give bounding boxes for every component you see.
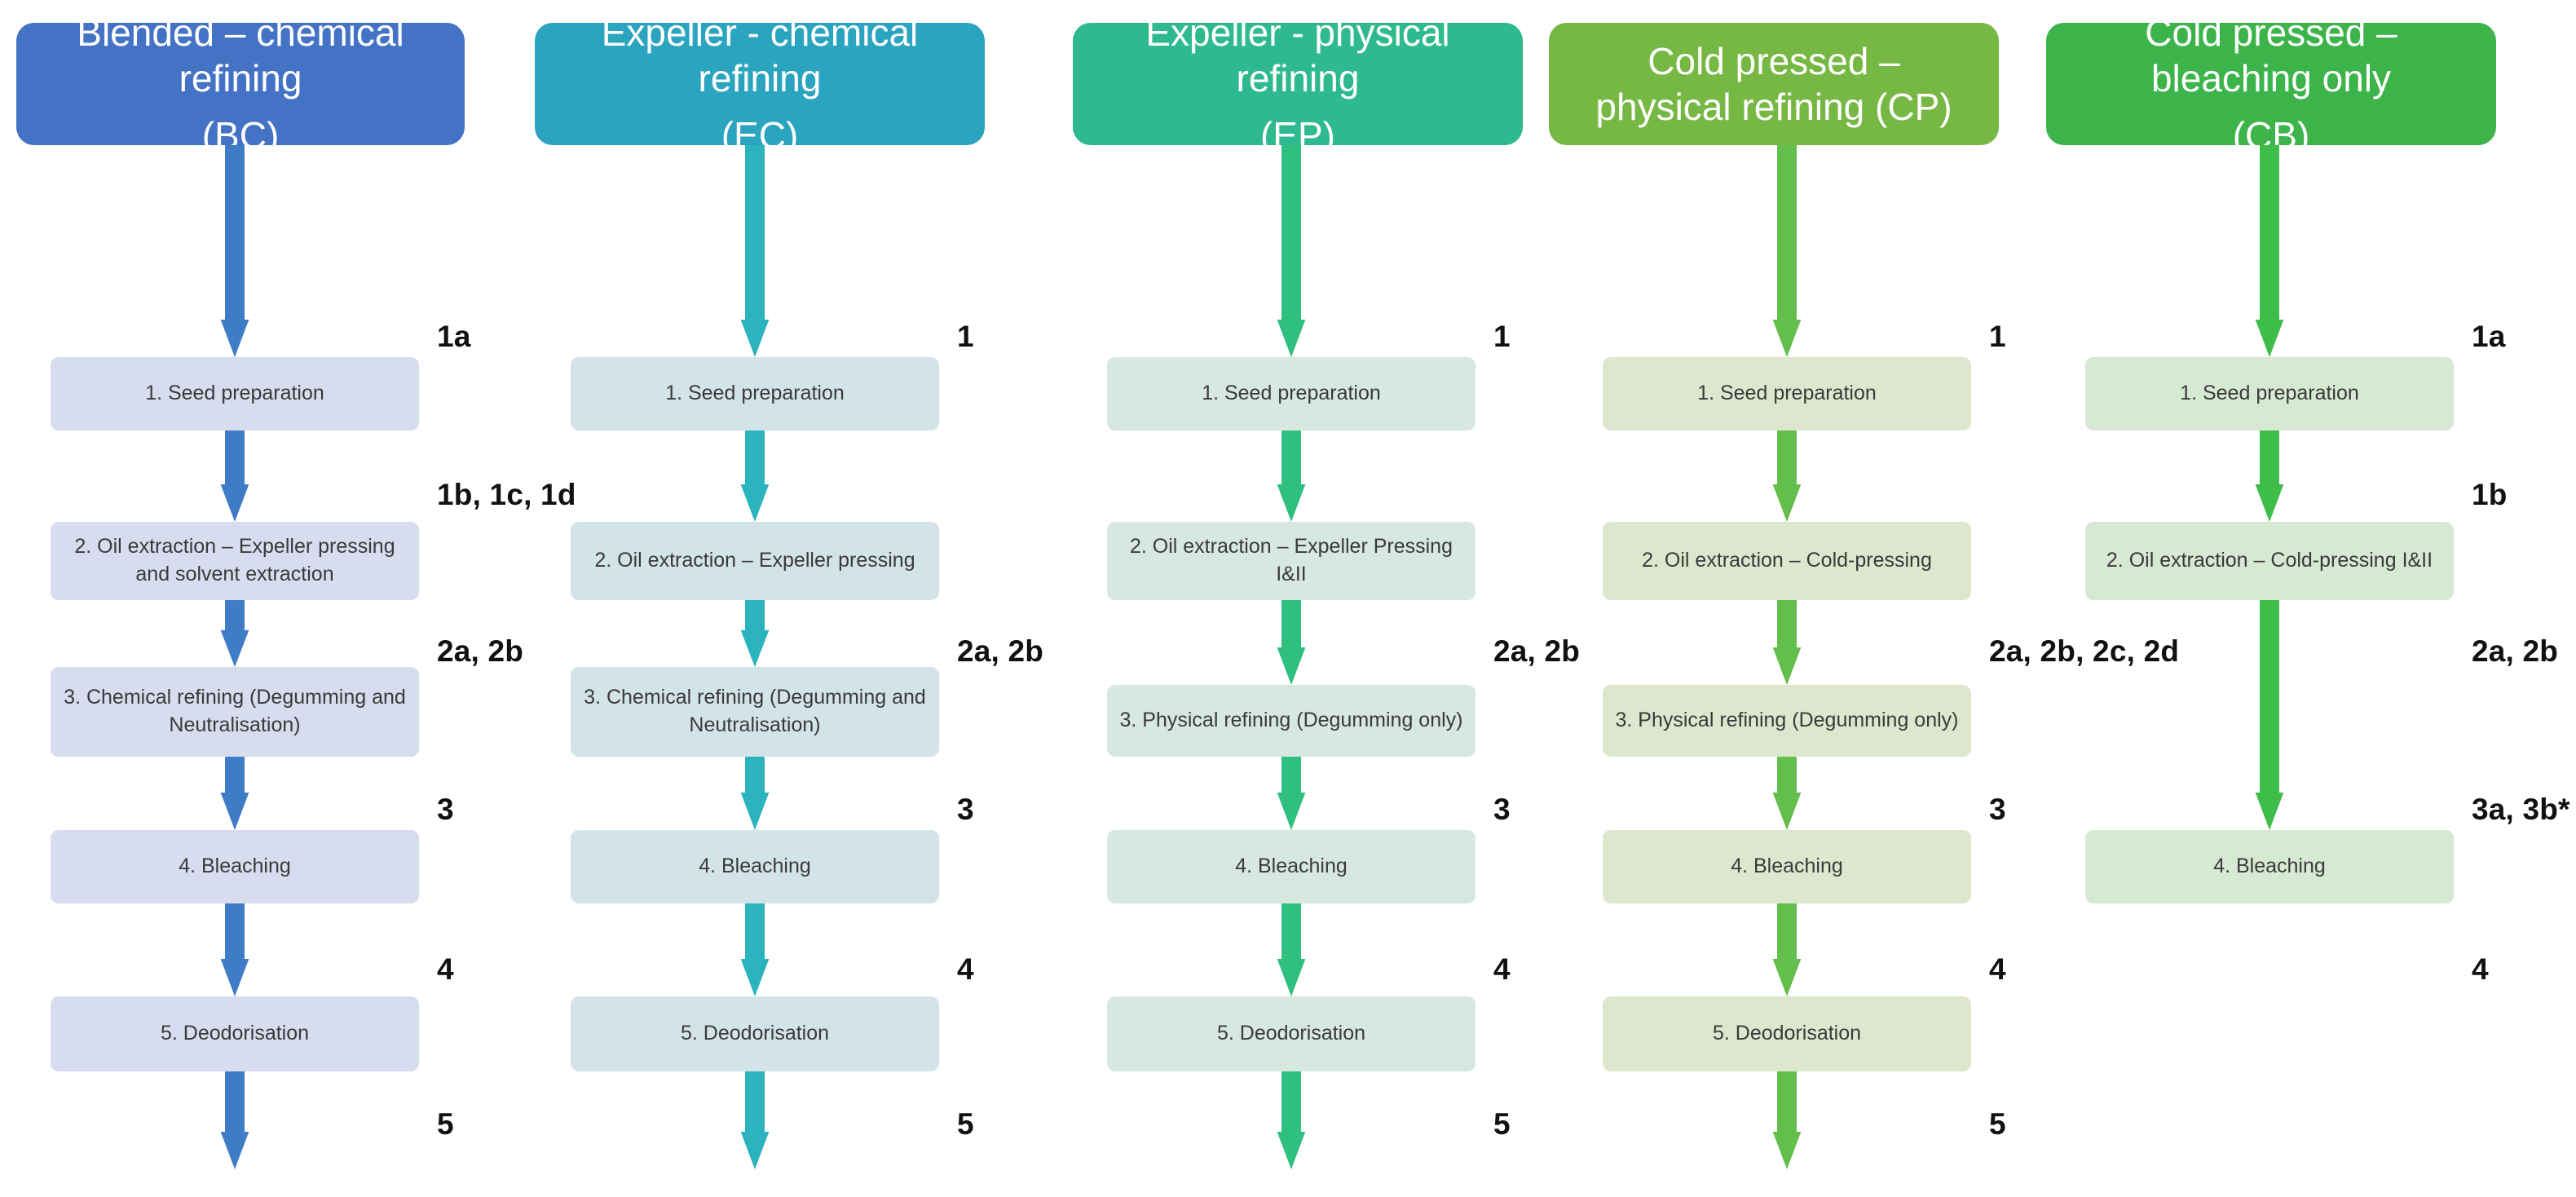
step-side-label: 1b bbox=[2472, 478, 2508, 512]
column-header-line: bleaching only bbox=[2145, 55, 2397, 101]
column-header-text: Blended – chemicalrefining(BC) bbox=[77, 10, 404, 158]
column-header-line: Cold pressed – bbox=[2145, 10, 2397, 55]
column-header-CB[interactable]: Cold pressed –bleaching only(CB) bbox=[2046, 23, 2496, 145]
flow-arrow bbox=[1764, 1071, 1810, 1169]
step-side-label: 3 bbox=[437, 793, 454, 827]
flow-arrow bbox=[1764, 145, 1810, 357]
step-box-label: 1. Seed preparation bbox=[2180, 380, 2359, 408]
step-side-label: 3a, 3b* bbox=[2472, 793, 2570, 827]
column-header-line: Expeller - physical bbox=[1145, 10, 1449, 55]
step-box-BC-2[interactable]: 2. Oil extraction – Expeller pressing an… bbox=[51, 522, 419, 600]
step-box-label: 4. Bleaching bbox=[1235, 853, 1348, 881]
step-box-label: 2. Oil extraction – Expeller Pressing I&… bbox=[1117, 533, 1466, 589]
step-box-label: 5. Deodorisation bbox=[681, 1020, 829, 1048]
column-header-EC[interactable]: Expeller - chemicalrefining(EC) bbox=[535, 23, 985, 145]
step-side-label: 1b, 1c, 1d bbox=[437, 478, 576, 512]
flow-arrow bbox=[1764, 903, 1810, 996]
step-side-label: 3 bbox=[1989, 793, 2006, 827]
flow-arrow bbox=[732, 757, 778, 830]
flow-arrow bbox=[212, 1071, 258, 1169]
column-header-line: refining bbox=[77, 55, 404, 101]
step-box-CP-5[interactable]: 5. Deodorisation bbox=[1603, 996, 1971, 1071]
step-side-label: 4 bbox=[957, 952, 974, 987]
step-side-label: 4 bbox=[1493, 952, 1511, 987]
step-box-CB-2[interactable]: 2. Oil extraction – Cold-pressing I&II bbox=[2085, 522, 2454, 600]
step-side-label: 2a, 2b bbox=[2472, 634, 2558, 669]
flow-arrow bbox=[1268, 145, 1314, 357]
step-box-label: 4. Bleaching bbox=[1731, 853, 1843, 881]
column-header-line: Blended – chemical bbox=[77, 10, 404, 55]
step-box-CP-1[interactable]: 1. Seed preparation bbox=[1603, 357, 1971, 431]
flow-arrow bbox=[1268, 431, 1314, 522]
column-tail-label: 5 bbox=[957, 1107, 974, 1142]
flow-arrow bbox=[732, 145, 778, 357]
step-side-label: 1a bbox=[437, 320, 471, 354]
step-box-label: 3. Chemical refining (Degumming and Neut… bbox=[580, 684, 929, 740]
step-box-label: 2. Oil extraction – Expeller pressing bbox=[594, 547, 915, 575]
step-box-EP-3[interactable]: 3. Physical refining (Degumming only) bbox=[1107, 685, 1475, 757]
step-box-CB-1[interactable]: 1. Seed preparation bbox=[2085, 357, 2454, 431]
step-box-EC-5[interactable]: 5. Deodorisation bbox=[571, 996, 939, 1071]
step-box-label: 4. Bleaching bbox=[2213, 853, 2326, 881]
process-flow-diagram: Blended – chemicalrefining(BC)1. Seed pr… bbox=[0, 0, 2576, 1197]
step-box-label: 1. Seed preparation bbox=[145, 380, 324, 408]
step-side-label: 1a bbox=[2472, 320, 2506, 354]
flow-arrow bbox=[1764, 757, 1810, 830]
flow-arrow bbox=[732, 903, 778, 996]
step-side-label: 1 bbox=[1493, 320, 1511, 354]
step-box-label: 3. Physical refining (Degumming only) bbox=[1119, 707, 1462, 735]
column-header-text: Cold pressed –bleaching only(CB) bbox=[2145, 10, 2397, 158]
step-box-label: 1. Seed preparation bbox=[665, 380, 845, 408]
step-box-label: 5. Deodorisation bbox=[1713, 1020, 1861, 1048]
flow-arrow bbox=[732, 600, 778, 667]
column-tail-label: 5 bbox=[1989, 1107, 2006, 1142]
flow-arrow bbox=[732, 431, 778, 522]
step-box-EP-1[interactable]: 1. Seed preparation bbox=[1107, 357, 1475, 431]
step-box-label: 2. Oil extraction – Cold-pressing I&II bbox=[2106, 547, 2433, 575]
step-box-label: 5. Deodorisation bbox=[1217, 1020, 1365, 1048]
step-box-label: 2. Oil extraction – Expeller pressing an… bbox=[60, 533, 409, 589]
column-header-line: Cold pressed – bbox=[1595, 38, 1952, 84]
step-side-label: 2a, 2b bbox=[1493, 634, 1580, 669]
step-side-label: 2a, 2b, 2c, 2d bbox=[1989, 634, 2179, 669]
flow-arrow bbox=[2247, 145, 2292, 357]
column-header-text: Expeller - physicalrefining(EP) bbox=[1145, 10, 1449, 158]
flow-arrow bbox=[1268, 757, 1314, 830]
step-box-EC-1[interactable]: 1. Seed preparation bbox=[571, 357, 939, 431]
step-box-EP-5[interactable]: 5. Deodorisation bbox=[1107, 996, 1475, 1071]
step-box-EP-4[interactable]: 4. Bleaching bbox=[1107, 830, 1475, 903]
flow-arrow bbox=[732, 1071, 778, 1169]
column-header-text: Cold pressed –physical refining (CP) bbox=[1595, 38, 1952, 130]
column-header-EP[interactable]: Expeller - physicalrefining(EP) bbox=[1073, 23, 1523, 145]
step-box-EC-2[interactable]: 2. Oil extraction – Expeller pressing bbox=[571, 522, 939, 600]
step-side-label: 4 bbox=[2472, 952, 2489, 987]
step-side-label: 1 bbox=[957, 320, 974, 354]
step-box-BC-4[interactable]: 4. Bleaching bbox=[51, 830, 419, 903]
step-box-EC-3[interactable]: 3. Chemical refining (Degumming and Neut… bbox=[571, 667, 939, 757]
step-box-BC-5[interactable]: 5. Deodorisation bbox=[51, 996, 419, 1071]
flow-arrow bbox=[1764, 431, 1810, 522]
step-box-label: 1. Seed preparation bbox=[1202, 380, 1381, 408]
flow-arrow bbox=[2247, 600, 2292, 830]
flow-arrow bbox=[212, 145, 258, 357]
step-box-label: 5. Deodorisation bbox=[161, 1020, 309, 1048]
step-box-CB-3[interactable]: 4. Bleaching bbox=[2085, 830, 2454, 903]
step-box-label: 2. Oil extraction – Cold-pressing bbox=[1642, 547, 1932, 575]
column-tail-label: 5 bbox=[1493, 1107, 1511, 1142]
flow-arrow bbox=[1268, 1071, 1314, 1169]
step-side-label: 4 bbox=[437, 952, 454, 987]
step-side-label: 2a, 2b bbox=[957, 634, 1043, 669]
step-box-CP-2[interactable]: 2. Oil extraction – Cold-pressing bbox=[1603, 522, 1971, 600]
column-tail-label: 5 bbox=[437, 1107, 454, 1142]
flow-arrow bbox=[1268, 903, 1314, 996]
column-header-text: Expeller - chemicalrefining(EC) bbox=[602, 10, 919, 158]
column-header-line: physical refining (CP) bbox=[1595, 84, 1952, 130]
step-box-label: 4. Bleaching bbox=[179, 853, 291, 881]
step-box-EP-2[interactable]: 2. Oil extraction – Expeller Pressing I&… bbox=[1107, 522, 1475, 600]
column-header-line: refining bbox=[1145, 55, 1449, 101]
step-box-EC-4[interactable]: 4. Bleaching bbox=[571, 830, 939, 903]
flow-arrow bbox=[1268, 600, 1314, 685]
flow-arrow bbox=[212, 431, 258, 522]
flow-arrow bbox=[212, 757, 258, 830]
step-side-label: 3 bbox=[957, 793, 974, 827]
step-side-label: 2a, 2b bbox=[437, 634, 523, 669]
step-box-label: 1. Seed preparation bbox=[1697, 380, 1877, 408]
column-header-line: refining bbox=[602, 55, 919, 101]
step-side-label: 1 bbox=[1989, 320, 2006, 354]
flow-arrow bbox=[1764, 600, 1810, 685]
column-header-BC[interactable]: Blended – chemicalrefining(BC) bbox=[16, 23, 465, 145]
step-box-label: 4. Bleaching bbox=[699, 853, 811, 881]
step-box-label: 3. Chemical refining (Degumming and Neut… bbox=[60, 684, 409, 740]
step-side-label: 3 bbox=[1493, 793, 1511, 827]
step-box-BC-3[interactable]: 3. Chemical refining (Degumming and Neut… bbox=[51, 667, 419, 757]
flow-arrow bbox=[212, 903, 258, 996]
flow-arrow bbox=[212, 600, 258, 667]
column-header-line: Expeller - chemical bbox=[602, 10, 919, 55]
step-side-label: 4 bbox=[1989, 952, 2006, 987]
flow-arrow bbox=[2247, 431, 2292, 522]
step-box-label: 3. Physical refining (Degumming only) bbox=[1615, 707, 1958, 735]
step-box-BC-1[interactable]: 1. Seed preparation bbox=[51, 357, 419, 431]
column-header-CP[interactable]: Cold pressed –physical refining (CP) bbox=[1549, 23, 1999, 145]
step-box-CP-4[interactable]: 4. Bleaching bbox=[1603, 830, 1971, 903]
step-box-CP-3[interactable]: 3. Physical refining (Degumming only) bbox=[1603, 685, 1971, 757]
